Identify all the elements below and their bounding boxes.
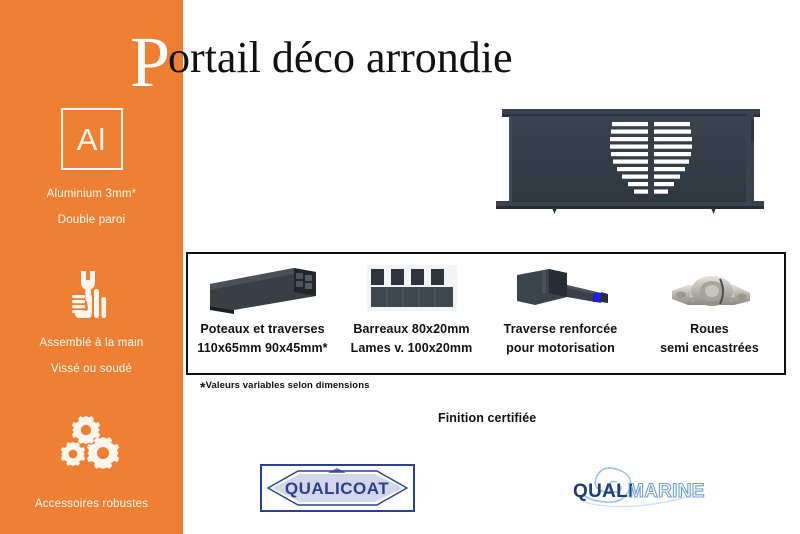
footnote-text: Valeurs variables selon dimensions [206, 380, 370, 391]
motor-crossbar-icon [509, 260, 613, 316]
aluminium-symbol-text: Al [77, 124, 107, 155]
page-title: Portail déco arrondie [130, 14, 513, 86]
qualimarine-logo-text-light: MARINE [628, 481, 705, 502]
feature-item-posts: Poteaux et traverses 110x65mm 90x45mm* [188, 254, 337, 373]
feature-item-motor-line2: pour motorisation [506, 341, 615, 355]
feature-item-wheels-line2: semi encastrées [660, 341, 759, 355]
qualicoat-logo-text: QUALICOAT [285, 479, 389, 498]
feature-item-motor-line1: Traverse renforcée [504, 322, 618, 336]
sidebar-item-aluminium-line1: Aluminium 3mm* [47, 186, 137, 203]
qualimarine-logo-text-bold: QUALI [573, 481, 634, 502]
sidebar-item-accessories-line1: Accessoires robustes [35, 496, 148, 513]
certification-title: Finition certifiée [438, 411, 536, 425]
sidebar-item-aluminium-line2: Double paroi [58, 212, 126, 229]
gears-icon [56, 412, 128, 474]
sidebar-item-assembly: Assemblé à la main Vissé ou soudé [0, 265, 183, 377]
qualimarine-logo: QUALI MARINE [565, 462, 715, 512]
wheel-bearing-icon [664, 260, 756, 316]
feature-item-bars-line1: Barreaux 80x20mm [353, 322, 469, 336]
features-box: Poteaux et traverses 110x65mm 90x45mm* B… [186, 252, 786, 375]
page-title-rest: ortail déco arrondie [168, 33, 513, 82]
sidebar-item-accessories: Accessoires robustes [0, 412, 183, 513]
qualicoat-logo: QUALICOAT [260, 464, 415, 512]
feature-item-bars: Barreaux 80x20mm Lames v. 100x20mm [337, 254, 486, 373]
sidebar-item-assembly-line1: Assemblé à la main [40, 335, 144, 352]
sidebar-item-assembly-line2: Vissé ou soudé [51, 361, 132, 378]
feature-item-posts-line1: Poteaux et traverses [200, 322, 324, 336]
footnote: *Valeurs variables selon dimensions [200, 380, 369, 396]
feature-item-wheels-line1: Roues [690, 322, 729, 336]
gate-image [478, 100, 783, 220]
aluminium-square-icon: Al [61, 108, 123, 170]
feature-item-bars-line2: Lames v. 100x20mm [351, 341, 473, 355]
sidebar-item-aluminium: Al Aluminium 3mm* Double paroi [0, 108, 183, 228]
feature-item-motor: Traverse renforcée pour motorisation [486, 254, 635, 373]
hand-wrench-icon [63, 265, 121, 323]
footnote-star: * [200, 379, 206, 395]
bars-slats-icon [367, 260, 457, 316]
post-profile-icon [204, 260, 322, 316]
feature-item-posts-line2: 110x65mm 90x45mm* [197, 341, 327, 355]
sidebar: Al Aluminium 3mm* Double paroi [0, 0, 183, 534]
feature-item-wheels: Roues semi encastrées [635, 254, 784, 373]
